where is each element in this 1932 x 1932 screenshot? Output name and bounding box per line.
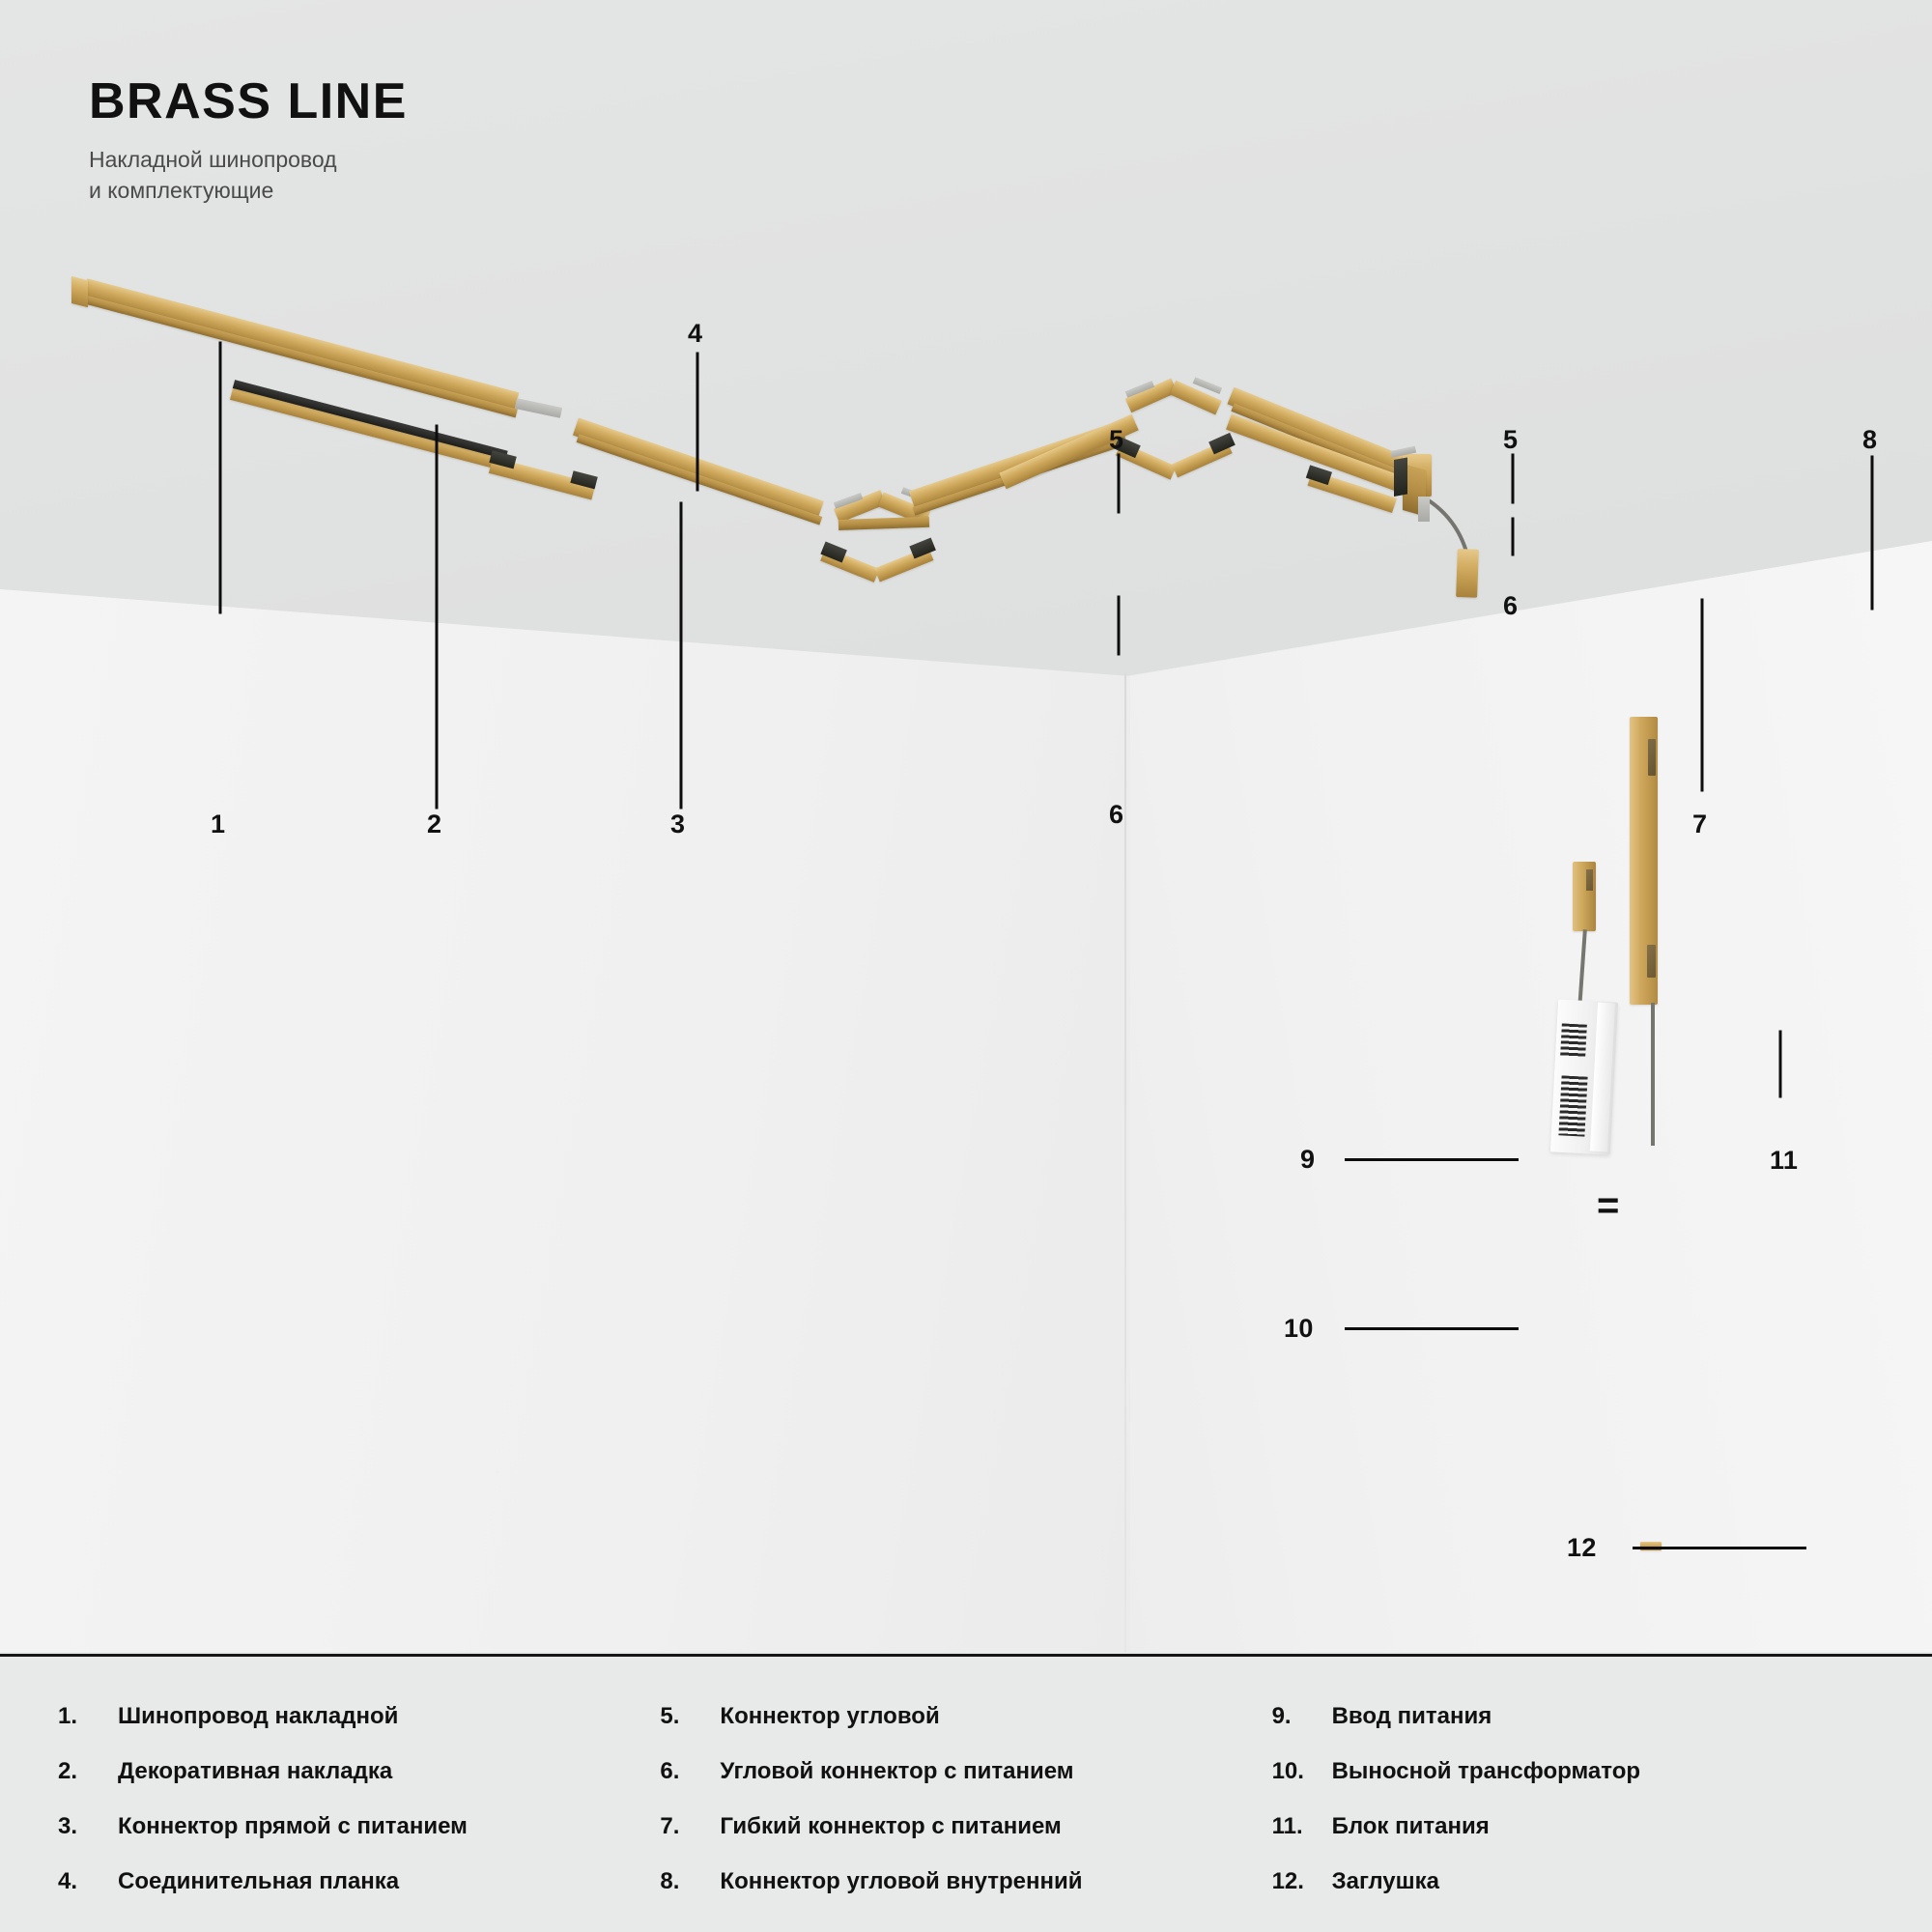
- left-wall-surface: [0, 541, 1130, 1652]
- legend-item-index: 4.: [58, 1868, 118, 1895]
- legend-item-label: Коннектор угловой внутренний: [720, 1868, 1082, 1895]
- transformer-10-vents-top: [1560, 1023, 1587, 1057]
- legend-item-label: Гибкий коннектор с питанием: [720, 1813, 1061, 1840]
- track-rail-1-endcap: [71, 276, 88, 307]
- legend-item-label: Коннектор угловой: [720, 1703, 939, 1730]
- callout-number-8: 8: [1862, 425, 1877, 455]
- legend-column-1: 1. Шинопровод накладной 2. Декоративная …: [58, 1703, 660, 1932]
- legend-item-label: Ввод питания: [1332, 1703, 1492, 1730]
- legend-item-index: 2.: [58, 1758, 118, 1785]
- callout-number-10: 10: [1284, 1314, 1314, 1344]
- legend-item-index: 9.: [1272, 1703, 1332, 1730]
- legend-item-label: Соединительная планка: [118, 1868, 399, 1895]
- legend-item: 5. Коннектор угловой: [660, 1703, 1271, 1758]
- legend-item-label: Выносной трансформатор: [1332, 1758, 1640, 1785]
- leader-line-2: [436, 425, 439, 810]
- legend-item: 9. Ввод питания: [1272, 1703, 1874, 1758]
- legend-item-label: Блок питания: [1332, 1813, 1490, 1840]
- transformer-10-vents-bottom: [1558, 1075, 1587, 1136]
- legend-item: 6. Угловой коннектор с питанием: [660, 1758, 1271, 1813]
- page-header: BRASS LINE Накладной шинопровод и компле…: [89, 75, 408, 207]
- legend-item: 3. Коннектор прямой с питанием: [58, 1813, 660, 1868]
- callout-number-4: 4: [688, 319, 702, 349]
- leader-line-6a: [1118, 596, 1121, 656]
- leader-line-7: [1701, 599, 1704, 792]
- legend-item: 4. Соединительная планка: [58, 1868, 660, 1923]
- legend-item-index: 11.: [1272, 1813, 1332, 1840]
- leader-line-5b: [1512, 454, 1515, 504]
- power-supply-11-slot-lower: [1647, 945, 1656, 978]
- page-subtitle: Накладной шинопровод и комплектующие: [89, 144, 408, 207]
- legend-item: 2. Декоративная накладка: [58, 1758, 660, 1813]
- product-scene-illustration: = 1 2 3 4 5 6 5 6 7 8 9 10 11 12: [0, 0, 1932, 1652]
- legend-item-label: Коннектор прямой с питанием: [118, 1813, 468, 1840]
- callout-number-6b: 6: [1503, 591, 1518, 621]
- flex-connector-7-block: [1456, 549, 1479, 598]
- internal-corner-connector-8-cap: [1394, 458, 1407, 497]
- legend-item: 8. Коннектор угловой внутренний: [660, 1868, 1271, 1923]
- leader-line-6b: [1512, 518, 1515, 556]
- callout-number-3: 3: [670, 810, 685, 839]
- callout-number-9: 9: [1300, 1145, 1315, 1175]
- right-wall-surface: [1121, 522, 1932, 1652]
- legend-item-label: Декоративная накладка: [118, 1758, 392, 1785]
- callout-number-11: 11: [1770, 1146, 1798, 1176]
- legend-item-label: Заглушка: [1332, 1868, 1439, 1895]
- page-subtitle-line-2: и комплектующие: [89, 175, 408, 207]
- leader-line-8: [1871, 456, 1874, 611]
- callout-number-12: 12: [1567, 1533, 1597, 1563]
- leader-line-4: [696, 353, 699, 492]
- legend-item: 11. Блок питания: [1272, 1813, 1874, 1868]
- legend-item-label: Угловой коннектор с питанием: [720, 1758, 1073, 1785]
- legend-item: 7. Гибкий коннектор с питанием: [660, 1813, 1271, 1868]
- callout-number-7: 7: [1692, 810, 1707, 839]
- power-feed-9-slot: [1586, 869, 1593, 891]
- leader-line-10: [1345, 1327, 1519, 1330]
- legend-item: 1. Шинопровод накладной: [58, 1703, 660, 1758]
- page-title: BRASS LINE: [89, 75, 408, 128]
- leader-line-1: [219, 342, 222, 614]
- leader-line-11: [1779, 1031, 1782, 1098]
- legend-item-label: Шинопровод накладной: [118, 1703, 398, 1730]
- leader-line-5a: [1118, 454, 1121, 514]
- legend-item-index: 3.: [58, 1813, 118, 1840]
- leader-line-3: [680, 502, 683, 810]
- legend-item-index: 5.: [660, 1703, 720, 1730]
- legend-item-index: 12.: [1272, 1868, 1332, 1895]
- legend-item-index: 7.: [660, 1813, 720, 1840]
- power-supply-11-cable: [1651, 1003, 1655, 1146]
- legend-column-3: 9. Ввод питания 10. Выносной трансформат…: [1272, 1703, 1874, 1932]
- legend-item-index: 8.: [660, 1868, 720, 1895]
- leader-line-9: [1345, 1158, 1519, 1161]
- leader-line-12: [1633, 1547, 1806, 1549]
- legend-item-index: 1.: [58, 1703, 118, 1730]
- wall-corner-edge: [1124, 673, 1126, 1652]
- callout-number-1: 1: [211, 810, 225, 839]
- page-subtitle-line-1: Накладной шинопровод: [89, 144, 408, 176]
- legend-list: 1. Шинопровод накладной 2. Декоративная …: [0, 1657, 1932, 1932]
- legend-item-index: 10.: [1272, 1758, 1332, 1785]
- legend-item: 10. Выносной трансформатор: [1272, 1758, 1874, 1813]
- callout-number-6a: 6: [1109, 800, 1123, 830]
- legend-column-2: 5. Коннектор угловой 6. Угловой коннекто…: [660, 1703, 1271, 1932]
- equals-sign: =: [1597, 1190, 1619, 1221]
- internal-corner-connector-8-tab: [1418, 497, 1430, 522]
- callout-number-5a: 5: [1109, 425, 1123, 455]
- legend-item-index: 6.: [660, 1758, 720, 1785]
- callout-number-5b: 5: [1503, 425, 1518, 455]
- power-supply-11-slot: [1648, 739, 1656, 776]
- legend-item: 12. Заглушка: [1272, 1868, 1874, 1923]
- callout-number-2: 2: [427, 810, 441, 839]
